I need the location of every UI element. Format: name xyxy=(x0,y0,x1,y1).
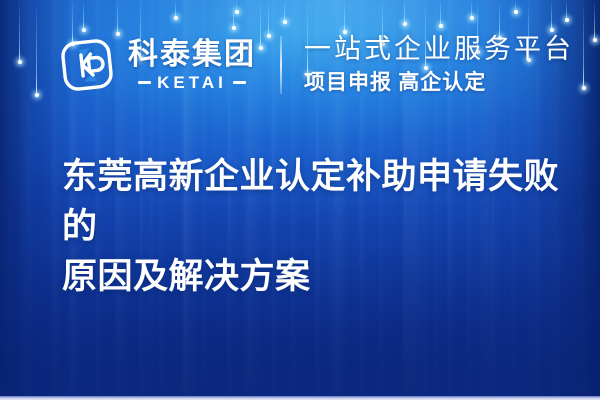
banner-header: 科泰集团 KETAI 一站式企业服务平台 项目申报 高企认定 xyxy=(0,0,600,130)
ketai-diamond-kp-monogram-icon xyxy=(58,36,116,94)
brand-lockup: 科泰集团 KETAI xyxy=(58,36,256,94)
brand-text-block: 科泰集团 KETAI xyxy=(128,39,256,91)
slogan-block: 一站式企业服务平台 项目申报 高企认定 xyxy=(304,34,574,95)
brand-name-en: KETAI xyxy=(157,74,227,91)
brand-name-cn: 科泰集团 xyxy=(128,39,256,71)
bottom-accent-strip xyxy=(0,396,600,400)
slogan-sub: 项目申报 高企认定 xyxy=(304,70,574,95)
promo-banner: 科泰集团 KETAI 一站式企业服务平台 项目申报 高企认定 东莞高新企业认定补… xyxy=(0,0,600,400)
brand-rule-right-icon xyxy=(233,81,246,84)
brand-rule-left-icon xyxy=(138,81,151,84)
slogan-main: 一站式企业服务平台 xyxy=(304,34,574,65)
page-title-line-1: 东莞高新企业认定补助申请失败的 xyxy=(62,152,562,252)
page-title-line-2: 原因及解决方案 xyxy=(62,252,562,302)
header-divider xyxy=(280,36,282,94)
brand-name-en-row: KETAI xyxy=(138,74,246,91)
page-title: 东莞高新企业认定补助申请失败的 原因及解决方案 xyxy=(62,152,562,302)
